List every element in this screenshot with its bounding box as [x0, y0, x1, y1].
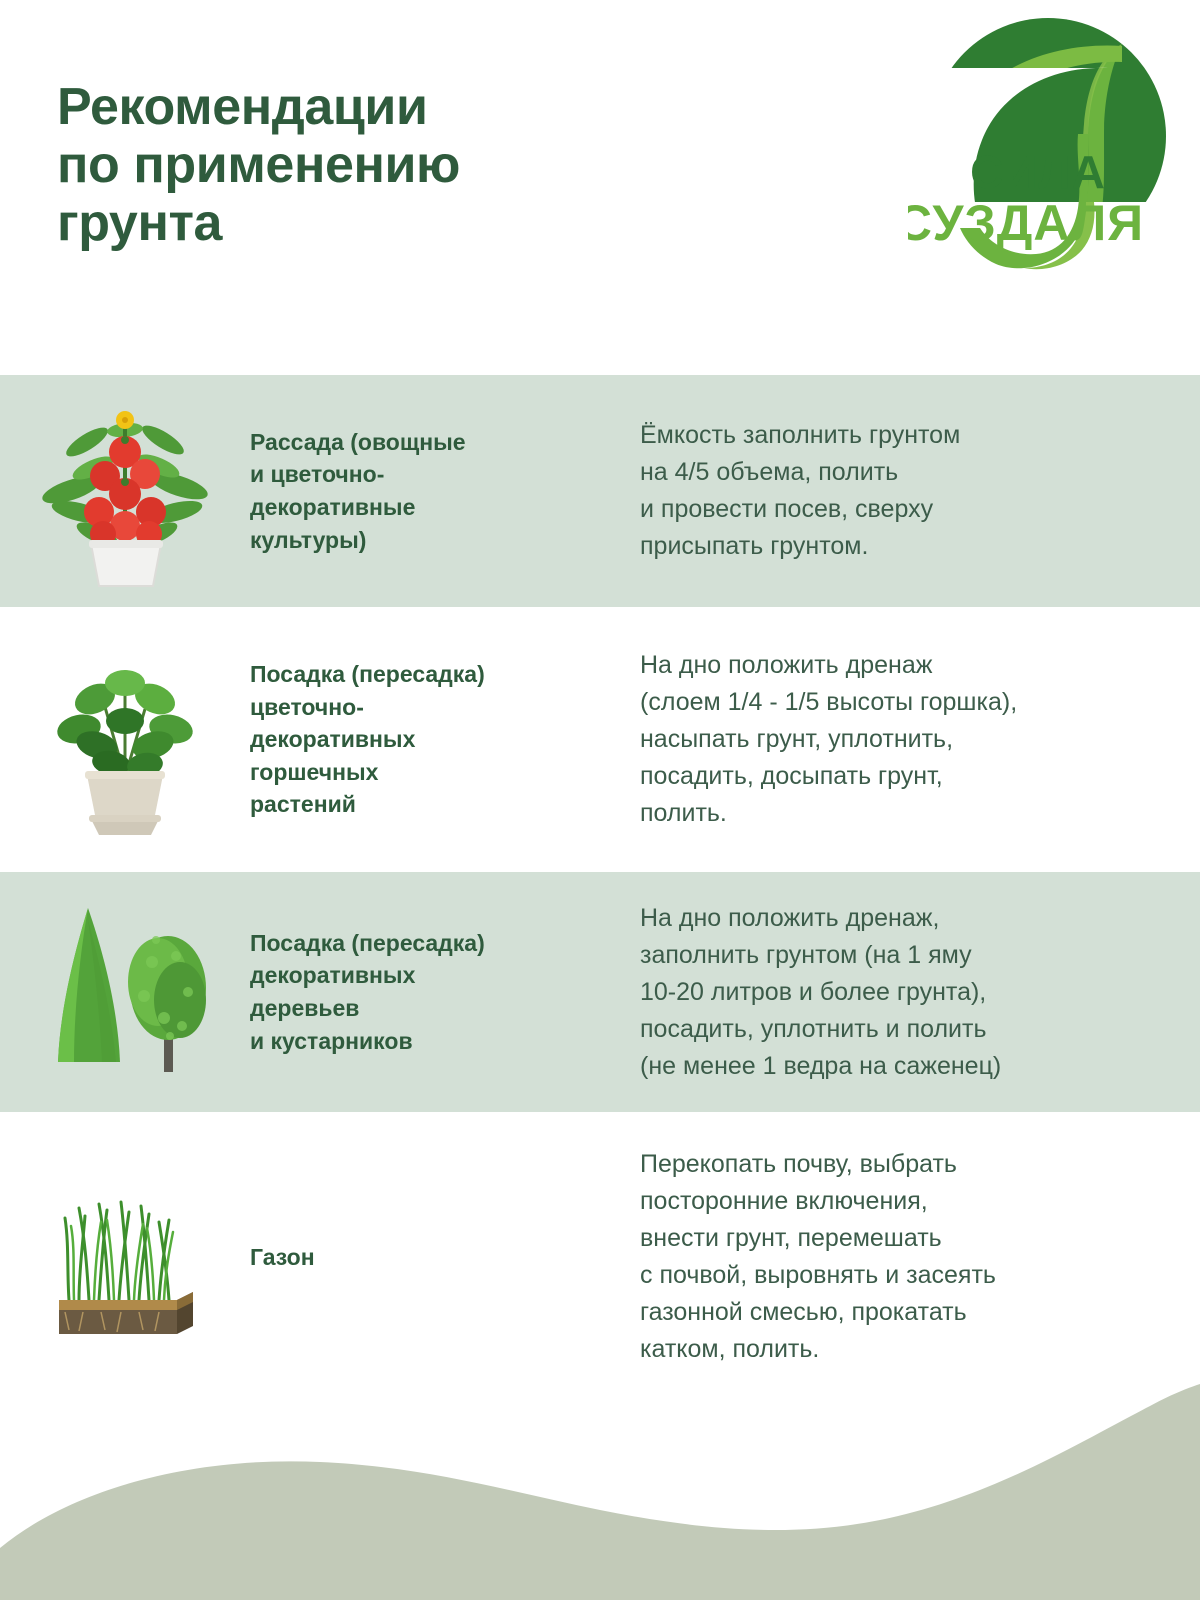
row-description: Перекопать почву, выбрать посторонние вк…: [640, 1146, 1200, 1368]
table-row: Посадка (пересадка) цветочно- декоративн…: [0, 607, 1200, 872]
row-description: На дно положить дренаж (слоем 1/4 - 1/5 …: [640, 647, 1200, 832]
lawn-turf-block-image: [35, 1162, 215, 1352]
row-image-cell: [0, 607, 250, 872]
row-title: Посадка (пересадка) декоративных деревье…: [250, 927, 640, 1058]
potted-houseplant-image: [35, 637, 215, 842]
header: Рекомендации по применению грунта: [0, 0, 1200, 375]
decorative-trees-and-shrubs-image: [30, 900, 220, 1085]
page-title: Рекомендации по применению грунта: [57, 78, 460, 253]
recommendation-table: Рассада (овощные и цветочно- декоративны…: [0, 375, 1200, 1402]
footer-wave-decoration: [0, 1370, 1200, 1600]
infographic-page: Рекомендации по применению грунта: [0, 0, 1200, 1600]
tomato-seedling-in-pot-image: [33, 394, 218, 589]
row-title: Газон: [250, 1241, 640, 1274]
table-row: Посадка (пересадка) декоративных деревье…: [0, 872, 1200, 1112]
row-title: Рассада (овощные и цветочно- декоративны…: [250, 426, 640, 557]
logo-text-line2: СУЗДАЛЯ: [908, 195, 1144, 251]
row-image-cell: [0, 1112, 250, 1402]
row-image-cell: [0, 375, 250, 607]
row-description: На дно положить дренаж, заполнить грунто…: [640, 900, 1200, 1085]
logo-text-line1: СИЛА: [970, 146, 1106, 198]
row-description: Ёмкость заполнить грунтом на 4/5 объема,…: [640, 417, 1200, 565]
row-image-cell: [0, 872, 250, 1112]
row-title: Посадка (пересадка) цветочно- декоративн…: [250, 658, 640, 821]
table-row: Рассада (овощные и цветочно- декоративны…: [0, 375, 1200, 607]
table-row: Газон Перекопать почву, выбрать посторон…: [0, 1112, 1200, 1402]
brand-logo: СИЛА СУЗДАЛЯ: [908, 16, 1178, 284]
